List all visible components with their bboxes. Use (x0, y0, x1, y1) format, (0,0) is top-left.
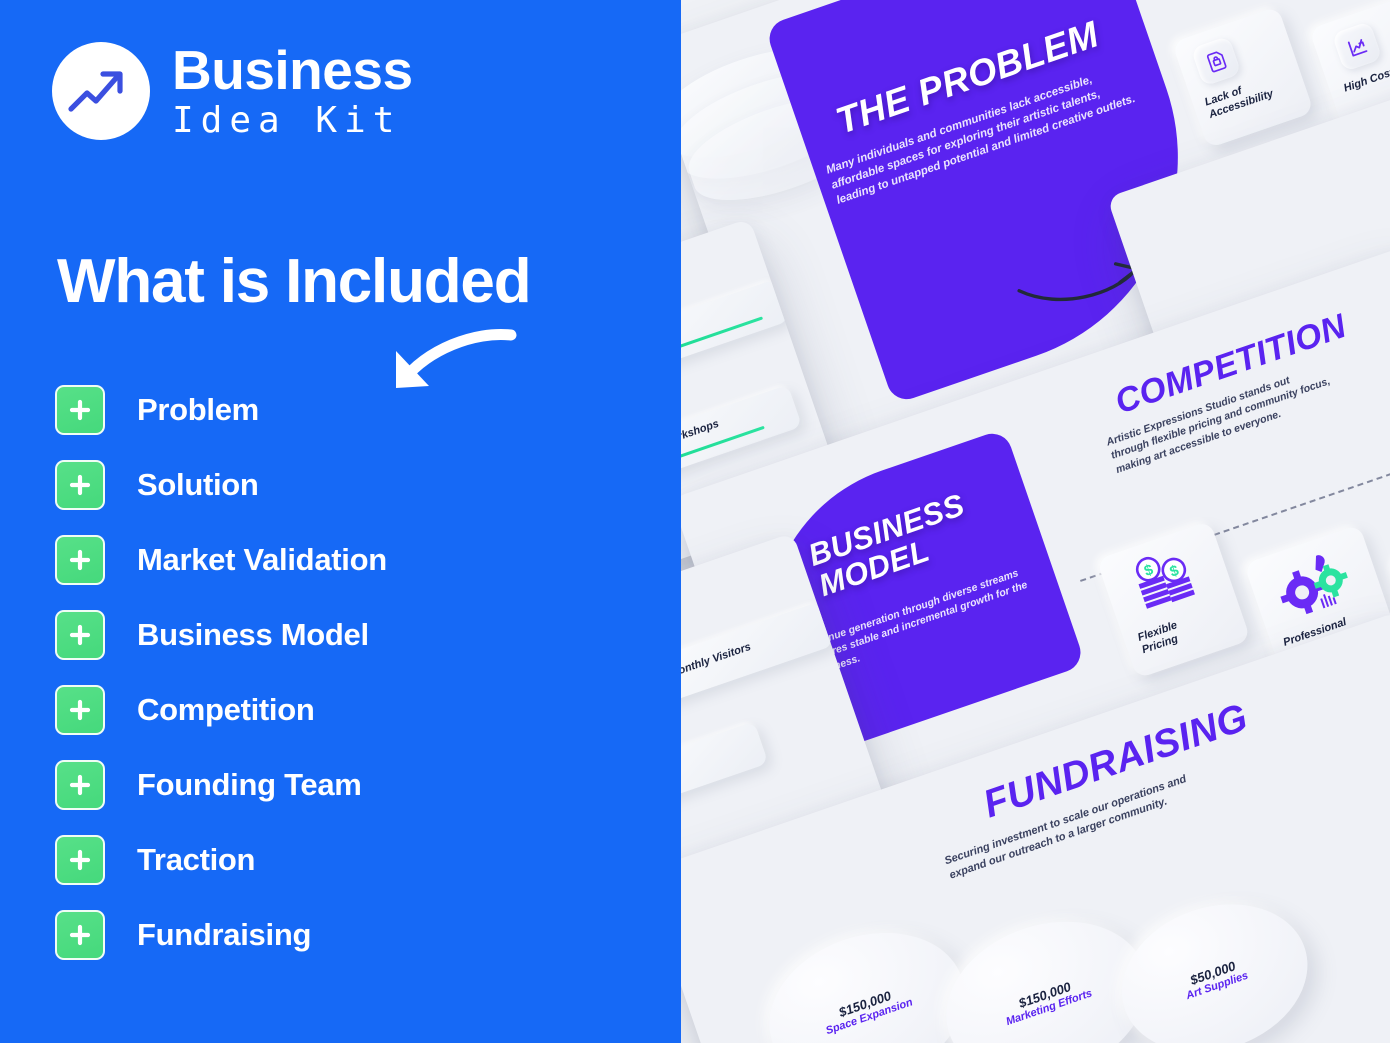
brand-logo: Business Idea Kit (52, 42, 413, 140)
problem-card-label: High Cost (1342, 66, 1390, 95)
money-stacks-icon: $ $ (1124, 539, 1207, 619)
plus-icon (55, 385, 105, 435)
feature-item-founding-team[interactable]: Founding Team (55, 760, 387, 810)
plus-icon (55, 835, 105, 885)
plus-icon (55, 610, 105, 660)
brand-title: Business (172, 43, 413, 98)
feature-label: Fundraising (137, 917, 311, 953)
gears-icon (1267, 540, 1358, 626)
competition-card-flexible-pricing[interactable]: $ $ Flexible Pricing (1096, 521, 1250, 679)
feature-label: Market Validation (137, 542, 387, 578)
plus-icon (55, 535, 105, 585)
plus-icon (55, 460, 105, 510)
page-title: What is Included (57, 246, 530, 317)
feature-item-traction[interactable]: Traction (55, 835, 387, 885)
curved-arrow-down-left-icon (383, 323, 518, 403)
feature-item-solution[interactable]: Solution (55, 460, 387, 510)
competition-card-label: Flexible Pricing (1136, 619, 1183, 657)
feature-item-competition[interactable]: Competition (55, 685, 387, 735)
plus-icon (55, 910, 105, 960)
brand-subtitle: Idea Kit (172, 103, 413, 139)
feature-label: Traction (137, 842, 255, 878)
feature-label: Business Model (137, 617, 369, 653)
locked-document-icon (1191, 36, 1242, 87)
feature-list: Problem Solution Market Validation Busin… (55, 385, 387, 960)
feature-item-problem[interactable]: Problem (55, 385, 387, 435)
feature-item-fundraising[interactable]: Fundraising (55, 910, 387, 960)
feature-label: Competition (137, 692, 315, 728)
feature-item-business-model[interactable]: Business Model (55, 610, 387, 660)
plus-icon (55, 685, 105, 735)
feature-label: Problem (137, 392, 259, 428)
growth-chart-circle-icon (52, 42, 150, 140)
problem-card-accessibility[interactable]: Lack of Accessibility (1172, 6, 1314, 148)
line-chart-icon (1332, 21, 1383, 72)
feature-label: Solution (137, 467, 259, 503)
plus-icon (55, 760, 105, 810)
feature-label: Founding Team (137, 767, 362, 803)
business-model-title: BUSINESS MODEL (804, 489, 978, 602)
feature-item-market-validation[interactable]: Market Validation (55, 535, 387, 585)
left-blue-panel: Business Idea Kit What is Included Probl… (0, 0, 681, 1043)
